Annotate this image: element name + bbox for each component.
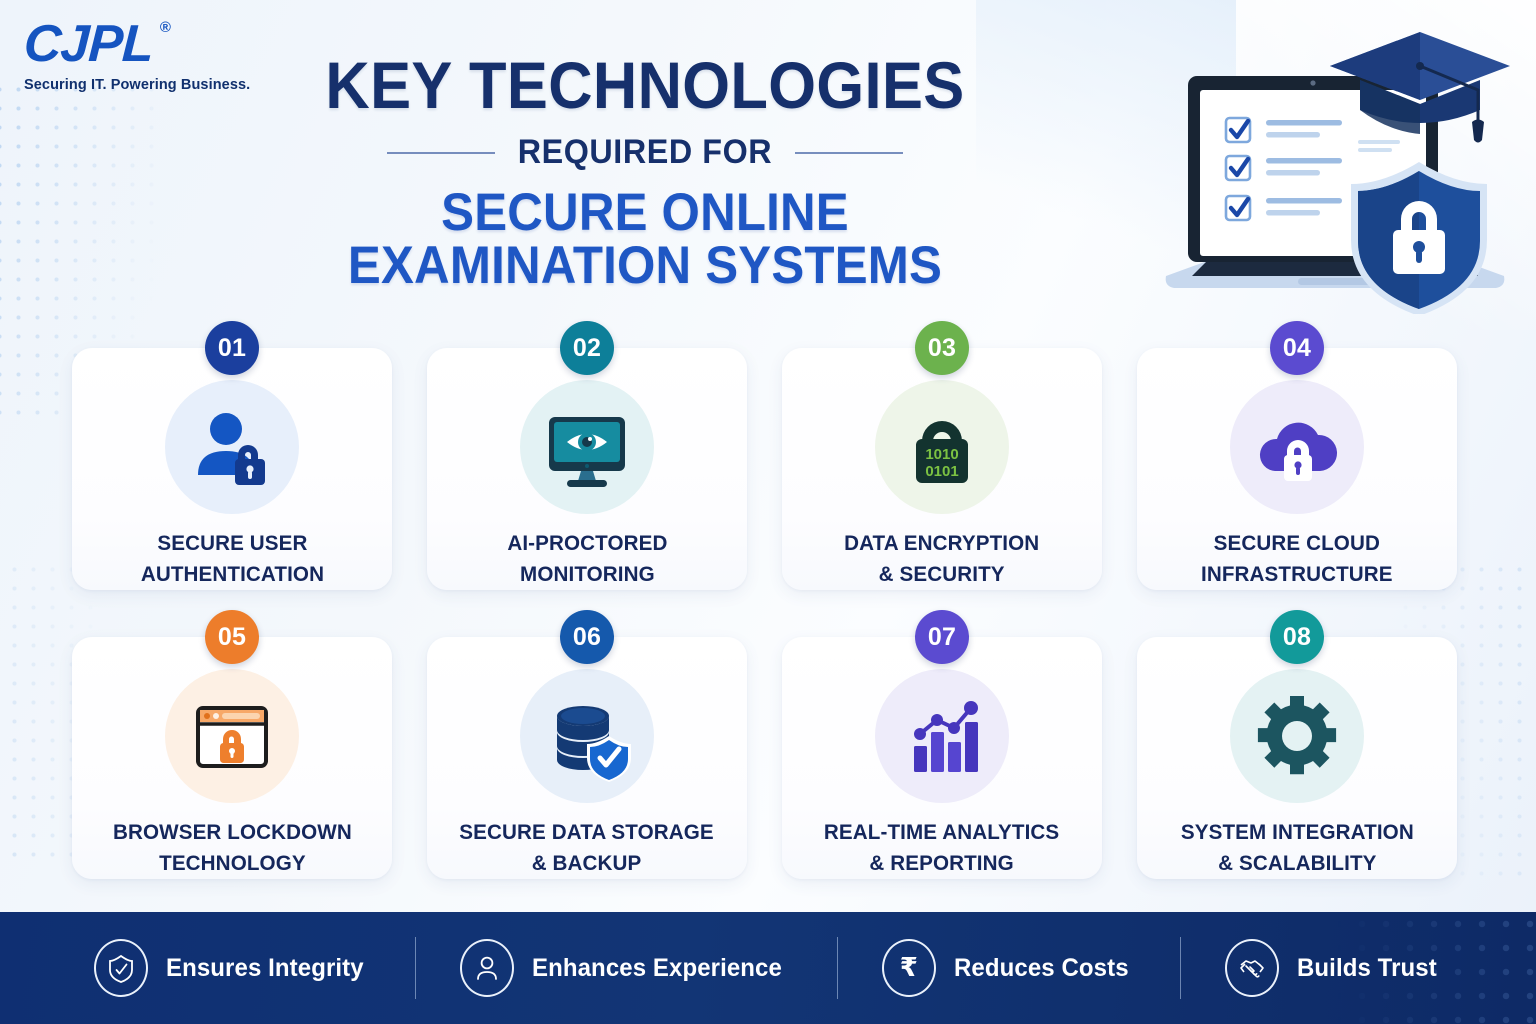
card-browser-lockdown-technology[interactable]: 05 BROWSER LOCKDOWN TECHNOLOGY: [72, 637, 392, 879]
browser-lock-icon: [182, 686, 282, 786]
card-label: SECURE DATA STORAGE & BACKUP: [460, 817, 715, 878]
card-label: AI-PROCTORED MONITORING: [507, 528, 667, 589]
card-label-line-2: TECHNOLOGY: [159, 851, 306, 875]
title-line-3: SECURE ONLINE EXAMINATION SYSTEMS: [278, 186, 1013, 292]
icon-disc: 1010 0101: [875, 380, 1009, 514]
card-ai-proctored-monitoring[interactable]: 02 AI-PROCTORED MONITORING: [427, 348, 747, 590]
card-label-line-1: SYSTEM INTEGRATION: [1180, 820, 1413, 844]
card-label: SECURE CLOUD INFRASTRUCTURE: [1201, 528, 1393, 589]
title-line-1: KEY TECHNOLOGIES: [278, 52, 1013, 119]
title-rule-right: [795, 152, 903, 154]
rupee-icon: ₹: [882, 939, 936, 997]
brand-logo: CJPL ® Securing IT. Powering Business.: [24, 18, 274, 93]
footer-item-label: Ensures Integrity: [166, 954, 364, 983]
monitor-eye-icon: [537, 397, 637, 497]
card-label-line-1: SECURE DATA STORAGE: [460, 820, 715, 844]
card-badge-number: 04: [1270, 321, 1324, 375]
infographic-poster: CJPL ® Securing IT. Powering Business. K…: [0, 0, 1536, 1024]
icon-disc: [165, 669, 299, 803]
card-badge-number: 07: [915, 610, 969, 664]
card-label-line-2: MONITORING: [520, 562, 655, 586]
footer-item-enhances-experience[interactable]: Enhances Experience: [416, 939, 836, 997]
hero-illustration: [1148, 14, 1518, 314]
card-label: SYSTEM INTEGRATION & SCALABILITY: [1180, 817, 1413, 878]
card-label-line-2: & REPORTING: [870, 851, 1014, 875]
card-badge-number: 03: [915, 321, 969, 375]
footer-item-label: Reduces Costs: [954, 954, 1129, 983]
footer-item-ensures-integrity[interactable]: Ensures Integrity: [50, 939, 416, 997]
card-badge-number: 08: [1270, 610, 1324, 664]
shield-lock-icon: [1351, 162, 1487, 314]
card-badge-number: 01: [205, 321, 259, 375]
card-label: BROWSER LOCKDOWN TECHNOLOGY: [113, 817, 352, 878]
gear-icon: [1247, 686, 1347, 786]
person-icon: [460, 939, 514, 997]
card-label-line-1: SECURE USER: [157, 531, 307, 555]
card-label-line-2: AUTHENTICATION: [140, 562, 323, 586]
card-data-encryption-security[interactable]: 03 1010 0101 DATA ENCRYPTION & SECURITY: [782, 348, 1102, 590]
logo-text: CJPL: [22, 15, 154, 73]
title-rule-left: [387, 152, 495, 154]
title-block: KEY TECHNOLOGIES REQUIRED FOR SECURE ONL…: [250, 52, 1040, 292]
card-secure-user-authentication[interactable]: 01 SECURE USER AUTHENTICATION: [72, 348, 392, 590]
title-line-2: REQUIRED FOR: [518, 133, 772, 172]
title-middle-row: REQUIRED FOR: [250, 133, 1040, 172]
footer-items: Ensures Integrity Enhances Experience ₹ …: [50, 937, 1487, 999]
card-secure-cloud-infrastructure[interactable]: 04 SECURE CLOUD INFRASTRUCTURE: [1137, 348, 1457, 590]
shield-check-icon: [94, 939, 148, 997]
user-lock-icon: [182, 397, 282, 497]
card-label-line-1: SECURE CLOUD: [1214, 531, 1380, 555]
card-label-line-1: REAL-TIME ANALYTICS: [824, 820, 1059, 844]
card-real-time-analytics-reporting[interactable]: 07 REAL-TIME ANALYTICS & REPORTING: [782, 637, 1102, 879]
footer-item-label: Builds Trust: [1297, 954, 1437, 983]
technology-card-grid: 01 SECURE USER AUTHENTICATION 02: [72, 348, 1464, 879]
icon-disc: [520, 669, 654, 803]
card-badge-number: 06: [560, 610, 614, 664]
card-badge-number: 05: [205, 610, 259, 664]
footer-item-builds-trust[interactable]: Builds Trust: [1181, 939, 1487, 997]
icon-disc: [1230, 669, 1364, 803]
handshake-icon: [1225, 939, 1279, 997]
card-badge-number: 02: [560, 321, 614, 375]
bar-chart-trend-icon: [892, 686, 992, 786]
card-secure-data-storage-backup[interactable]: 06 SECURE DATA STORAGE & BACKUP: [427, 637, 747, 879]
card-label-line-2: & SCALABILITY: [1218, 851, 1376, 875]
binary-bottom: 0101: [925, 463, 958, 480]
card-label-line-1: BROWSER LOCKDOWN: [113, 820, 352, 844]
card-label-line-1: AI-PROCTORED: [507, 531, 667, 555]
registered-trademark-icon: ®: [160, 20, 170, 35]
card-label-line-2: & SECURITY: [879, 562, 1005, 586]
binary-lock-icon: 1010 0101: [892, 397, 992, 497]
cloud-lock-icon: [1247, 397, 1347, 497]
database-shield-check-icon: [537, 686, 637, 786]
footer-item-label: Enhances Experience: [532, 954, 782, 983]
card-label: DATA ENCRYPTION & SECURITY: [844, 528, 1039, 589]
card-label: REAL-TIME ANALYTICS & REPORTING: [824, 817, 1059, 878]
card-label-line-1: DATA ENCRYPTION: [844, 531, 1039, 555]
benefits-footer-bar: Ensures Integrity Enhances Experience ₹ …: [0, 912, 1536, 1024]
card-label: SECURE USER AUTHENTICATION: [140, 528, 323, 589]
icon-disc: [520, 380, 654, 514]
rupee-glyph: ₹: [900, 955, 918, 981]
icon-disc: [875, 669, 1009, 803]
icon-disc: [1230, 380, 1364, 514]
card-label-line-2: & BACKUP: [532, 851, 642, 875]
card-system-integration-scalability[interactable]: 08 SYSTEM INTEGRATION & SCALABILITY: [1137, 637, 1457, 879]
icon-disc: [165, 380, 299, 514]
brand-tagline: Securing IT. Powering Business.: [24, 77, 274, 93]
footer-item-reduces-costs[interactable]: ₹ Reduces Costs: [838, 939, 1180, 997]
card-label-line-2: INFRASTRUCTURE: [1201, 562, 1393, 586]
binary-top: 1010: [925, 446, 958, 463]
logo-wordmark: CJPL ®: [23, 18, 155, 70]
